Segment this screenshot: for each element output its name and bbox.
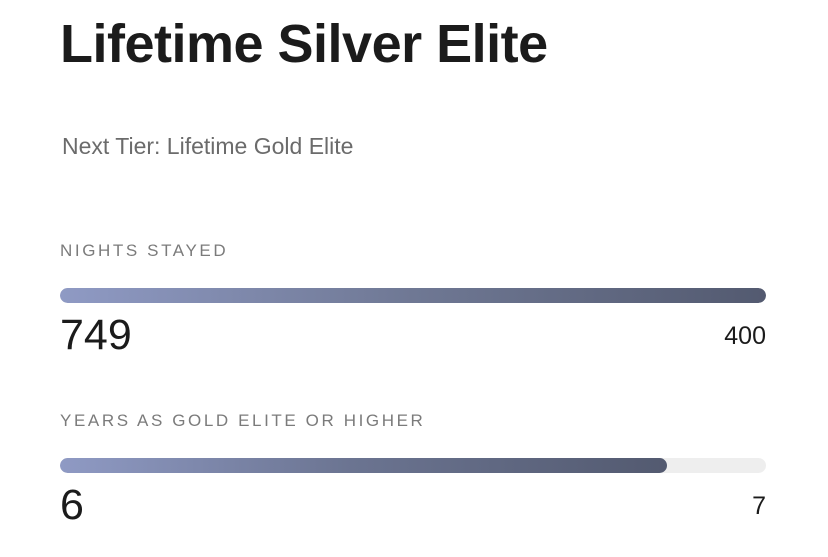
progress-track-nights-stayed	[60, 288, 766, 303]
progress-fill-years-gold-elite	[60, 458, 667, 473]
page-title: Lifetime Silver Elite	[60, 10, 548, 78]
progress-track-years-gold-elite	[60, 458, 766, 473]
metric-label-nights-stayed: NIGHTS STAYED	[60, 240, 766, 262]
metric-goal-value-nights-stayed: 400	[724, 321, 766, 351]
metric-label-years-gold-elite: YEARS AS GOLD ELITE OR HIGHER	[60, 410, 766, 432]
metric-current-value-nights-stayed: 749	[60, 309, 132, 361]
metric-values-years-gold-elite: 6 7	[60, 479, 766, 539]
metric-goal-value-years-gold-elite: 7	[752, 491, 766, 521]
metric-current-value-years-gold-elite: 6	[60, 479, 84, 531]
progress-fill-nights-stayed	[60, 288, 766, 303]
metric-values-nights-stayed: 749 400	[60, 309, 766, 369]
loyalty-tier-progress-screen: Lifetime Silver Elite Next Tier: Lifetim…	[0, 0, 828, 557]
next-tier-label: Next Tier: Lifetime Gold Elite	[62, 131, 353, 161]
metric-years-gold-elite: YEARS AS GOLD ELITE OR HIGHER 6 7	[60, 410, 766, 539]
metric-nights-stayed: NIGHTS STAYED 749 400	[60, 240, 766, 369]
